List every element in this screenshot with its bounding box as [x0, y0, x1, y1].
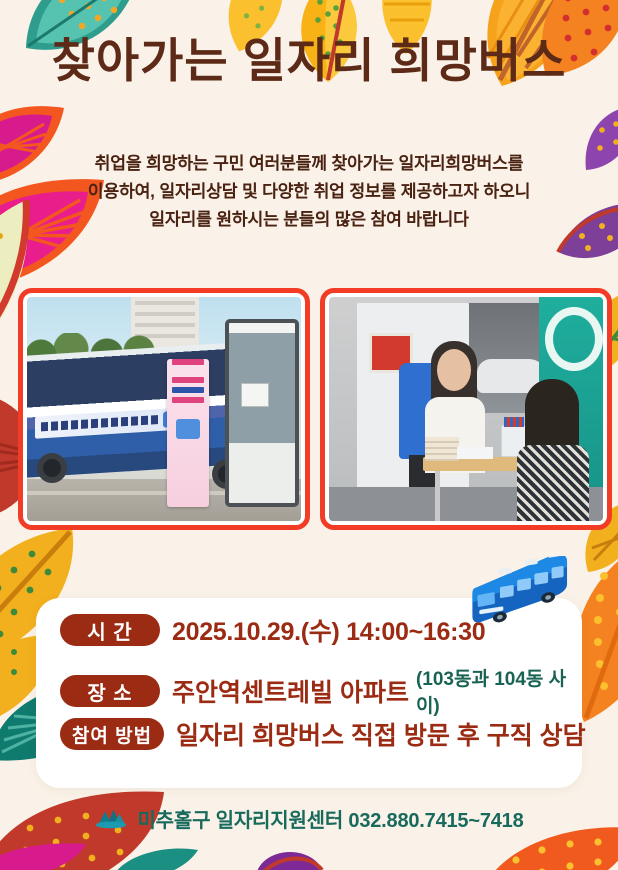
bus-door-shape: [225, 319, 299, 507]
info-card: 시 간 2025.10.29.(수) 14:00~16:30 장 소 주안역센트…: [36, 598, 582, 788]
info-row-time: 시 간 2025.10.29.(수) 14:00~16:30: [60, 612, 485, 648]
photo-bus: [27, 297, 301, 521]
photo-frame-bus: [18, 288, 310, 530]
footer-text: 미추홀구 일자리지원센터 032.880.7415~7418: [137, 804, 523, 833]
value-time: 2025.10.29.(수) 14:00~16:30: [172, 612, 485, 648]
info-row-place: 장 소 주안역센트레빌 아파트 (103동과 104동 사이): [60, 664, 582, 718]
intro-paragraph: 취업을 희망하는 구민 여러분들께 찾아가는 일자리희망버스를 이용하여, 일자…: [30, 150, 588, 234]
value-place: 주안역센트레빌 아파트: [172, 673, 409, 709]
photo-frame-counseling: [320, 288, 612, 530]
info-row-how: 참여 방법 일자리 희망버스 직접 방문 후 구직 상담: [60, 716, 586, 752]
brochure-stack: [425, 437, 459, 461]
papers-on-desk: [457, 447, 493, 459]
pink-standing-banner: [167, 359, 209, 507]
footer: 미추홀구 일자리지원센터 032.880.7415~7418: [0, 804, 618, 833]
leaf-magenta-bottomleft: [0, 840, 90, 870]
leaf-teal-bottomcenter: [110, 844, 200, 870]
poster-canvas: 찾아가는 일자리 희망버스 취업을 희망하는 구민 여러분들께 찾아가는 일자리…: [0, 0, 618, 870]
counselor-head: [437, 349, 471, 391]
photo-gallery: [18, 288, 612, 530]
intro-line-1: 취업을 희망하는 구민 여러분들께 찾아가는 일자리희망버스를: [30, 150, 588, 178]
title-block: 찾아가는 일자리 희망버스: [0, 36, 618, 85]
bus-icon: [462, 556, 574, 630]
photo-counseling: [329, 297, 603, 521]
visitor-body: [517, 445, 589, 521]
value-place-detail: (103동과 104동 사이): [416, 664, 582, 718]
label-place: 장 소: [60, 675, 160, 707]
intro-line-2: 이용하여, 일자리상담 및 다양한 취업 정보를 제공하고자 하오니: [30, 178, 588, 206]
label-time: 시 간: [60, 614, 160, 646]
intro-line-3: 일자리를 원하시는 분들의 많은 참여 바랍니다: [30, 206, 588, 234]
bus-wheel-front: [37, 453, 67, 483]
label-how: 참여 방법: [60, 718, 164, 750]
value-how: 일자리 희망버스 직접 방문 후 구직 상담: [176, 716, 586, 752]
mountain-logo-icon: [94, 808, 128, 830]
page-title: 찾아가는 일자리 희망버스: [0, 36, 618, 85]
leaf-purple-bottomcenter: [256, 838, 326, 870]
